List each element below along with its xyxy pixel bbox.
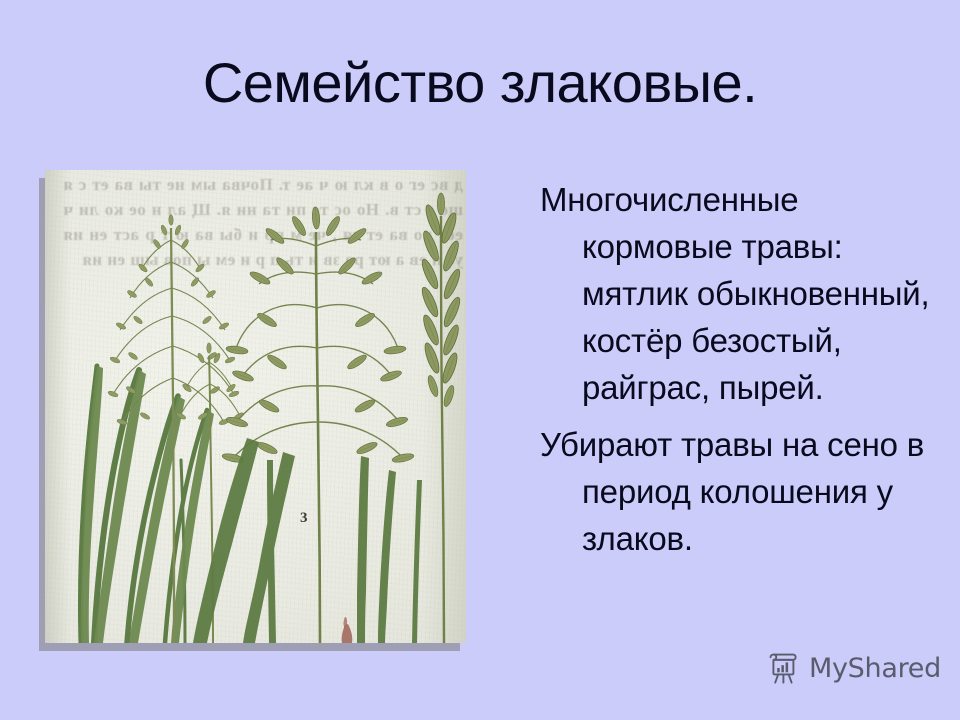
body-text-column: Многочисленные кормовые травы: мятлик об… (498, 176, 950, 562)
plant-right-spike (441, 216, 444, 643)
plant-centre-culm (316, 232, 320, 643)
illustration-figure: д вс ег о в кл ю ч ае т. Почва ым не ты … (45, 170, 466, 643)
myshared-watermark: MyShared (766, 652, 941, 686)
figure-image: д вс ег о в кл ю ч ае т. Почва ым не ты … (45, 170, 466, 643)
watermark-label: MyShared (809, 654, 941, 684)
bar-chart-glyph (777, 662, 788, 672)
supporting-blades (193, 438, 422, 643)
page-title: Семейство злаковые. (0, 52, 960, 114)
small-red-floret (342, 617, 353, 643)
presentation-chart-icon (766, 652, 800, 686)
body-paragraph-2: Убирают травы на сено в период колошения… (498, 421, 950, 562)
figure-number-label: 3 (300, 510, 308, 527)
grass-illustration-svg (45, 170, 466, 643)
body-paragraph-1: Многочисленные кормовые травы: мятлик об… (498, 176, 950, 411)
